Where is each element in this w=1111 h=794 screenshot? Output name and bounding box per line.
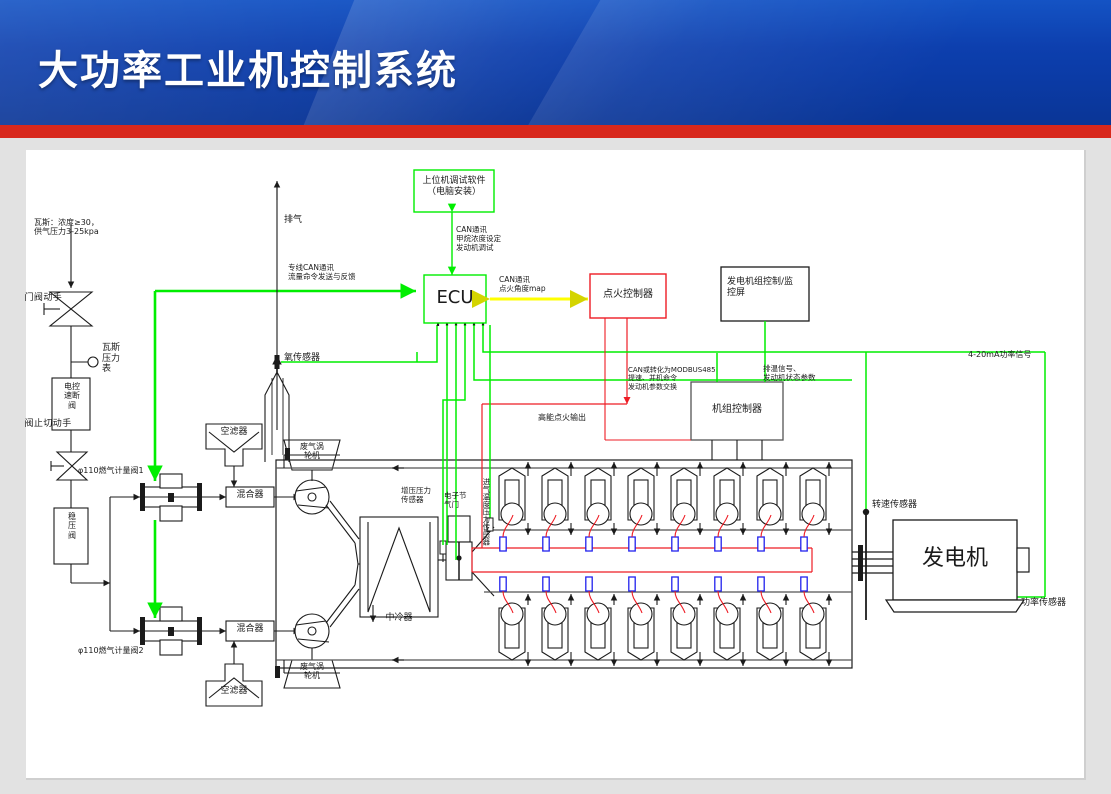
header-red-stripe bbox=[0, 125, 1111, 138]
box-intercooler-label: 中冷器 bbox=[360, 613, 438, 624]
label-electronic-throttle: 电子节 气门 bbox=[444, 492, 467, 510]
box-mixer-top-label: 混合器 bbox=[226, 490, 274, 501]
box-mixer-bottom-label: 混合器 bbox=[226, 624, 274, 635]
slide-header: 大功率工业机控制系统 bbox=[0, 0, 1111, 125]
label-speed-sensor: 转速传感器 bbox=[872, 500, 917, 511]
slide: 大功率工业机控制系统 bbox=[0, 0, 1111, 794]
box-host-software-label: 上位机调试软件 （电脑安装） bbox=[414, 176, 494, 197]
box-turbo-bottom-label: 废气涡 轮机 bbox=[289, 662, 335, 681]
label-regulator-valve: 稳 压 阀 bbox=[60, 512, 84, 540]
label-boost-pressure-sensor: 增压压力 传感器 bbox=[401, 487, 431, 505]
diagram-panel bbox=[26, 150, 1086, 780]
box-genset-hmi-label: 发电机组控制/监 控屏 bbox=[727, 277, 793, 298]
label-gas-pressure-gauge: 瓦斯 压力 表 bbox=[102, 343, 120, 375]
label-can-methane: CAN通讯 甲烷浓度设定 发动机调试 bbox=[456, 226, 501, 253]
label-power-sensor: 功率传感器 bbox=[1021, 598, 1066, 609]
box-generator-label: 发电机 bbox=[893, 546, 1017, 572]
header-sheen-2 bbox=[502, 0, 1111, 125]
label-can-modbus: CAN或转化为MODBUS485 提速、并机命令 发动机参数交换 bbox=[628, 366, 716, 391]
label-manual-stop-valve: 手 动 切 止 阀 bbox=[22, 418, 69, 427]
box-ignition-controller-label: 点火控制器 bbox=[590, 289, 666, 301]
label-oxygen-sensor: 氧传感器 bbox=[284, 353, 320, 364]
box-ecu-label: ECU bbox=[424, 287, 486, 308]
label-exhaust: 排气 bbox=[284, 215, 302, 226]
label-exhaust-temp-signal: 排温信号、 发动机状态参数 bbox=[763, 365, 816, 383]
label-gas-meter-valve-1: φ110燃气计量阀1 bbox=[78, 466, 144, 475]
label-can-ignition-map: CAN通讯 点火角度map bbox=[499, 276, 546, 294]
page-title: 大功率工业机控制系统 bbox=[38, 38, 458, 96]
box-turbo-top-label: 废气涡 轮机 bbox=[289, 442, 335, 461]
box-genset-controller-label: 机组控制器 bbox=[691, 404, 783, 416]
label-gas-supply: 瓦斯：浓度≥30， 供气压力3-25kpa bbox=[34, 218, 99, 237]
label-manual-valve: 手 动 阀 门 bbox=[22, 292, 60, 301]
label-high-energy-ignition: 高能点火输出 bbox=[538, 413, 586, 422]
label-intake-tp-sensor: 进气温度压力传感器 bbox=[482, 478, 490, 546]
label-shutoff-valve: 电控 速断 阀 bbox=[57, 382, 87, 410]
label-dedicated-can: 专线CAN通讯 流量命令发送与反馈 bbox=[288, 264, 356, 282]
label-power-signal: 4-20mA功率信号 bbox=[968, 350, 1031, 359]
box-air-filter-top-label: 空滤器 bbox=[206, 427, 262, 438]
label-gas-meter-valve-2: φ110燃气计量阀2 bbox=[78, 646, 144, 655]
box-air-filter-bottom-label: 空滤器 bbox=[206, 686, 262, 697]
